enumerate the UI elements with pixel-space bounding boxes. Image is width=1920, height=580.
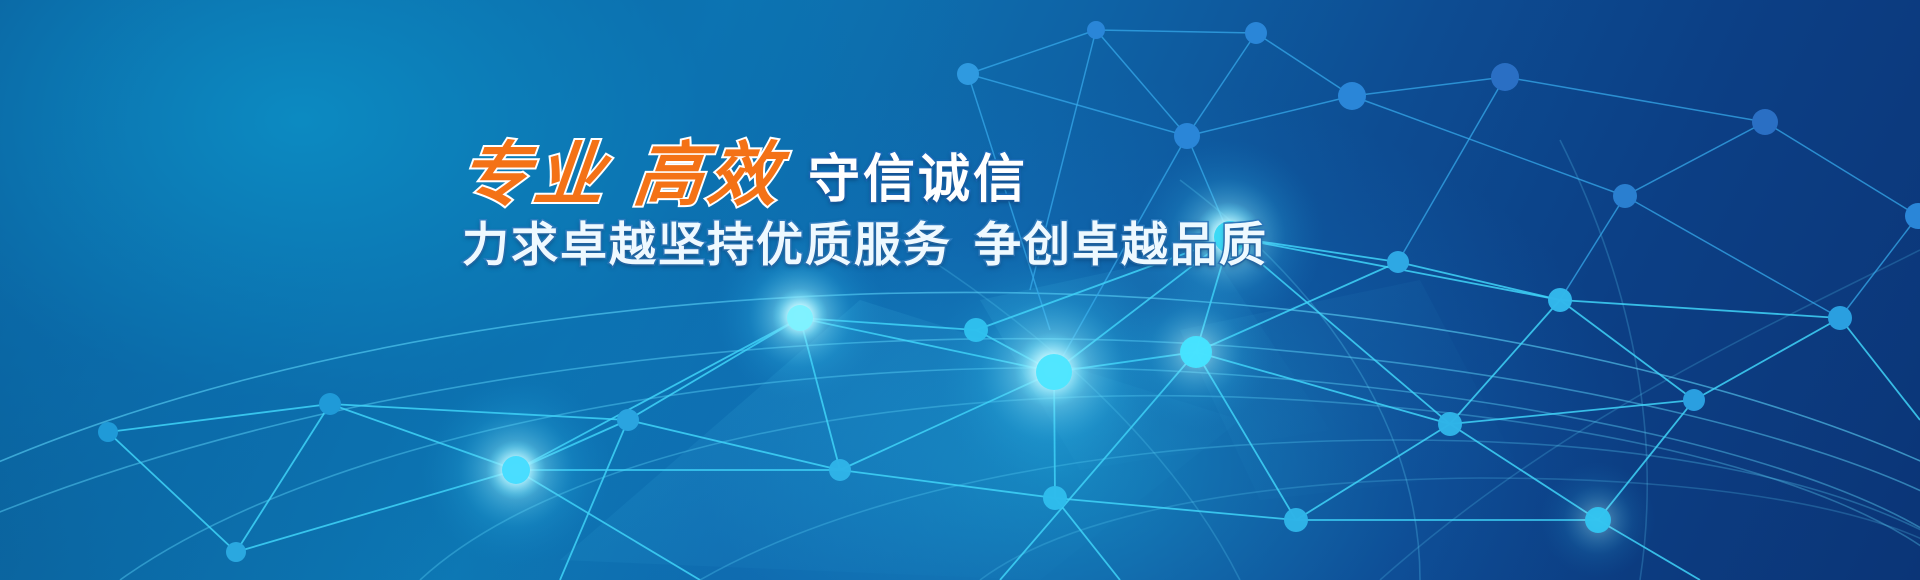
network-node — [964, 318, 988, 342]
network-node — [1087, 21, 1105, 39]
network-node — [1036, 354, 1072, 390]
network-node — [1548, 288, 1572, 312]
network-node — [98, 422, 118, 442]
network-node — [1043, 486, 1067, 510]
network-node — [787, 305, 813, 331]
network-node — [1174, 123, 1200, 149]
headline-white-word: 守信诚信 — [808, 154, 1028, 206]
network-node — [1828, 306, 1852, 330]
subheadline-line-2: 力求卓越坚持优质服务争创卓越品质 — [462, 222, 1268, 269]
network-background-graphic — [0, 0, 1920, 580]
network-node — [1752, 109, 1778, 135]
network-node — [1338, 82, 1366, 110]
network-node — [1905, 203, 1920, 229]
subheadline-segment-1: 力求卓越坚持优质服务 — [462, 218, 952, 273]
network-node — [1613, 184, 1637, 208]
network-node — [1180, 336, 1212, 368]
network-node — [1491, 63, 1519, 91]
network-node — [1245, 22, 1267, 44]
subheadline-segment-2: 争创卓越品质 — [974, 218, 1268, 273]
network-node — [1438, 412, 1462, 436]
headline-orange-word-1: 专业 — [456, 140, 611, 210]
network-node — [957, 63, 979, 85]
headline-line-1: 专业 高效 守信诚信 — [460, 140, 1028, 210]
promotional-banner: 专业 高效 守信诚信 力求卓越坚持优质服务争创卓越品质 — [0, 0, 1920, 580]
network-node — [829, 459, 851, 481]
network-node — [1387, 251, 1409, 273]
network-node — [617, 409, 639, 431]
network-node — [1585, 507, 1611, 533]
network-node — [226, 542, 246, 562]
network-node — [1683, 389, 1705, 411]
network-node — [502, 456, 530, 484]
network-node — [1284, 508, 1308, 532]
network-node — [319, 393, 341, 415]
headline-orange-word-2: 高效 — [630, 140, 785, 210]
